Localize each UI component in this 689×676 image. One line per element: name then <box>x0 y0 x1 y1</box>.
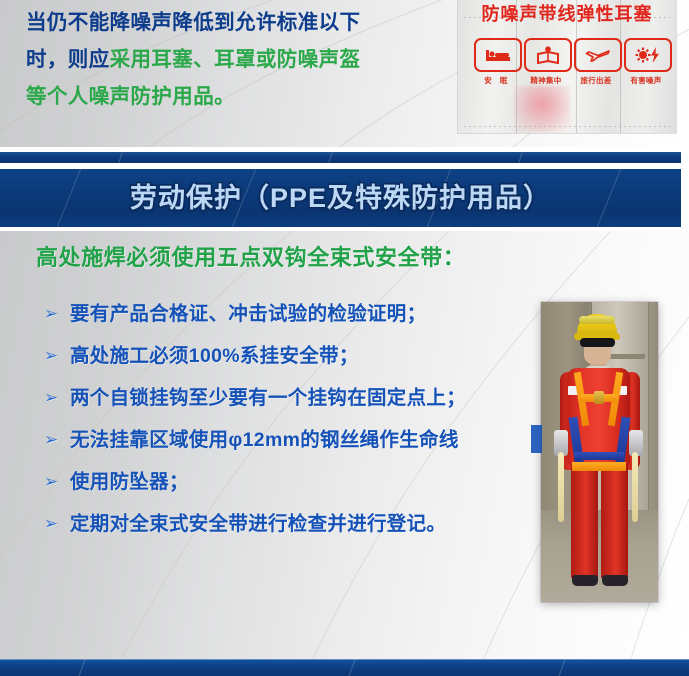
earplug-package-photo: 防噪声带线弹性耳塞 安 眠 <box>458 0 676 133</box>
harness-hip-strap <box>572 462 626 471</box>
bed-icon-glyph <box>485 47 511 63</box>
package-icon-caption: 安 眠 <box>474 75 518 86</box>
package-icon-noise: 有害噪声 <box>624 38 668 86</box>
arrow-bullet-icon: ➢ <box>44 467 70 497</box>
footer-hairline <box>0 659 689 660</box>
arrow-bullet-icon: ➢ <box>44 509 70 539</box>
package-title: 防噪声带线弹性耳塞 <box>458 0 676 26</box>
airplane-icon-glyph <box>585 47 611 63</box>
package-icon-travel: 旅行出差 <box>574 38 618 86</box>
worker-shoe-right <box>602 575 628 586</box>
arrow-bullet-icon: ➢ <box>44 425 70 455</box>
list-item-label: 高处施工必须100%系挂安全带； <box>70 341 359 371</box>
list-item-label: 要有产品合格证、冲击试验的检验证明； <box>70 299 426 329</box>
worker-shoe-left <box>572 575 598 586</box>
list-item-label: 无法挂靠区域使用φ12mm的钢丝绳作生命线 <box>70 425 459 455</box>
worker-leg-left <box>571 460 598 578</box>
photo-ground <box>541 510 658 602</box>
footer-bar <box>0 659 689 676</box>
package-icon-reading: 精神集中 <box>524 38 568 86</box>
noise-text-line-2-highlight: 采用耳塞、耳罩或防噪声盔 <box>110 48 361 71</box>
list-item-label: 两个自锁挂钩至少要有一个挂钩在固定点上； <box>70 383 466 413</box>
harness-blue-band <box>574 452 624 460</box>
package-icon-caption: 有害噪声 <box>624 75 668 86</box>
noise-protection-panel: 当仍不能降噪声降低到允许标准以下 时，则应采用耳塞、耳罩或防噪声盔 等个人噪声防… <box>0 0 689 147</box>
arrow-bullet-icon: ➢ <box>44 299 70 329</box>
airplane-icon <box>574 38 622 72</box>
arrow-bullet-icon: ➢ <box>44 341 70 371</box>
worker-leg-right <box>601 460 628 578</box>
list-item-label: 定期对全束式安全带进行检查并进行登记。 <box>70 509 446 539</box>
harness-buckle <box>594 391 604 404</box>
bed-icon <box>474 38 522 72</box>
divider-rule <box>0 152 681 163</box>
text-overlap-sliver <box>531 425 542 453</box>
section-title-band: 劳动保护（PPE及特殊防护用品） <box>0 169 681 227</box>
noise-hazard-icon-glyph <box>634 46 662 64</box>
harness-lanyard-left <box>558 452 564 522</box>
sunglasses-icon <box>580 338 615 347</box>
noise-text-line-1: 当仍不能降噪声降低到允许标准以下 <box>26 4 446 41</box>
slide: 当仍不能降噪声降低到允许标准以下 时，则应采用耳塞、耳罩或防噪声盔 等个人噪声防… <box>0 0 689 676</box>
package-icon-caption: 精神集中 <box>524 75 568 86</box>
noise-protection-text: 当仍不能降噪声降低到允许标准以下 时，则应采用耳塞、耳罩或防噪声盔 等个人噪声防… <box>26 4 446 115</box>
section-heading: 高处施焊必须使用五点双钩全束式安全带： <box>36 240 465 272</box>
reading-icon <box>524 38 572 72</box>
package-icon-caption: 旅行出差 <box>574 75 618 86</box>
noise-text-line-2: 时，则应采用耳塞、耳罩或防噪声盔 <box>26 41 446 78</box>
noise-hazard-icon <box>624 38 672 72</box>
harness-lanyard-right <box>632 452 638 522</box>
bag-pink-tint <box>514 86 570 132</box>
list-item-label: 使用防坠器； <box>70 467 189 497</box>
package-icon-bed: 安 眠 <box>474 38 518 86</box>
noise-text-line-2-prefix: 时，则应 <box>26 48 110 71</box>
safety-harness-photo <box>541 302 658 602</box>
reading-icon-glyph <box>536 46 560 64</box>
noise-text-line-3: 等个人噪声防护用品。 <box>26 78 446 115</box>
goggles-icon <box>579 316 615 324</box>
page-title: 劳动保护（PPE及特殊防护用品） <box>0 176 681 215</box>
package-icon-row: 安 眠 精神集中 <box>474 38 668 86</box>
arrow-bullet-icon: ➢ <box>44 383 70 413</box>
